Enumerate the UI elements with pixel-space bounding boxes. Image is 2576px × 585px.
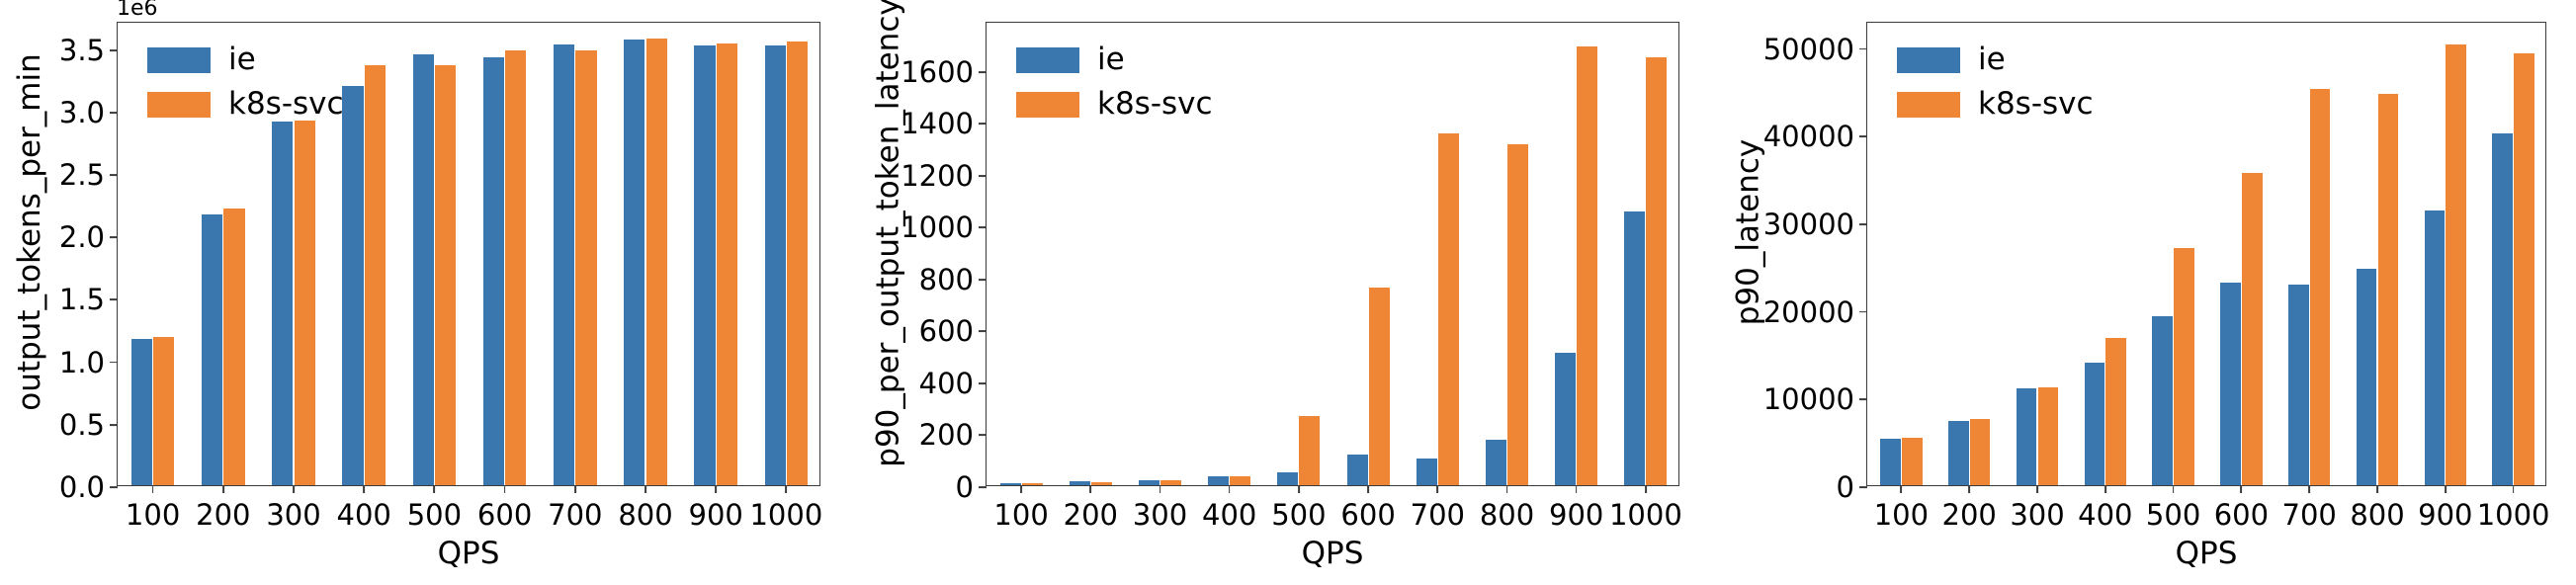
bar-ie	[1624, 211, 1645, 485]
x-tick-mark	[1367, 485, 1369, 493]
x-tick-mark	[574, 485, 576, 493]
bar-ie	[2357, 269, 2377, 485]
x-axis-label-3: QPS	[1866, 536, 2546, 571]
figure-root: output_tokens_per_min 1e6 0.00.51.01.52.…	[0, 0, 2576, 585]
chart-panel-1: output_tokens_per_min 1e6 0.00.51.01.52.…	[0, 0, 858, 585]
x-tick-label: 100	[1874, 498, 1929, 532]
x-tick-label: 800	[2350, 498, 2404, 532]
bar-ie	[624, 40, 644, 485]
y-tick-mark	[979, 435, 987, 437]
legend-2: ie k8s-svc	[1016, 44, 1213, 120]
x-tick-label: 200	[196, 498, 250, 532]
legend-label-ie: ie	[1097, 44, 1125, 75]
bar-ie	[554, 44, 574, 485]
y-tick-mark	[110, 174, 118, 176]
x-tick-label: 300	[1133, 498, 1187, 532]
x-tick-label: 900	[1549, 498, 1603, 532]
x-tick-label: 300	[266, 498, 320, 532]
bar-ie	[1277, 472, 1298, 485]
legend-label-k8s-svc: k8s-svc	[1097, 89, 1213, 120]
plot-area-3: 0100002000030000400005000010020030040050…	[1866, 22, 2546, 486]
x-tick-label: 600	[1340, 498, 1395, 532]
x-tick-label: 1000	[749, 498, 822, 532]
bar-k8s-svc	[575, 50, 596, 485]
plot-area-1: 0.00.51.01.52.02.53.03.51002003004005006…	[117, 22, 820, 486]
bar-ie	[272, 122, 293, 485]
bar-k8s-svc	[1577, 46, 1597, 485]
y-tick-label: 600	[919, 314, 987, 348]
bar-ie	[2425, 210, 2446, 485]
y-axis-label-1: output_tokens_per_min	[8, 0, 51, 464]
bar-k8s-svc	[2038, 387, 2059, 485]
legend-entry-ie: ie	[1016, 44, 1213, 75]
bar-ie	[1486, 440, 1506, 485]
bar-k8s-svc	[2242, 173, 2263, 485]
y-tick-mark	[979, 486, 987, 488]
bar-k8s-svc	[435, 65, 456, 485]
x-tick-label: 900	[2418, 498, 2472, 532]
y-tick-mark	[110, 112, 118, 114]
x-tick-label: 100	[126, 498, 180, 532]
y-tick-label: 20000	[1763, 295, 1867, 329]
bar-ie	[694, 45, 715, 485]
x-tick-mark	[293, 485, 295, 493]
bar-k8s-svc	[1646, 57, 1667, 485]
x-tick-mark	[1436, 485, 1438, 493]
x-tick-label: 700	[2282, 498, 2337, 532]
bar-k8s-svc	[1902, 438, 1923, 485]
x-tick-mark	[363, 485, 365, 493]
x-tick-label: 200	[1064, 498, 1118, 532]
x-tick-mark	[222, 485, 224, 493]
legend-swatch-k8s-svc-icon	[1897, 92, 1960, 118]
bar-ie	[1000, 483, 1021, 485]
y-tick-mark	[110, 486, 118, 488]
y-tick-mark	[1859, 48, 1867, 50]
bar-k8s-svc	[1507, 144, 1528, 485]
bar-ie	[1139, 480, 1159, 485]
bar-ie	[2085, 363, 2105, 485]
x-tick-mark	[785, 485, 787, 493]
y-tick-mark	[110, 236, 118, 238]
bar-k8s-svc	[365, 65, 386, 485]
x-tick-label: 600	[477, 498, 532, 532]
legend-entry-k8s-svc: k8s-svc	[147, 89, 344, 120]
y-tick-label: 800	[919, 263, 987, 296]
y-tick-mark	[110, 424, 118, 426]
y-tick-mark	[1859, 486, 1867, 488]
x-tick-mark	[1645, 485, 1647, 493]
y-tick-mark	[110, 299, 118, 301]
legend-swatch-ie-icon	[1016, 47, 1079, 73]
legend-label-ie: ie	[228, 44, 256, 75]
legend-swatch-ie-icon	[147, 47, 211, 73]
x-tick-label: 1000	[2477, 498, 2550, 532]
x-tick-mark	[2036, 485, 2038, 493]
x-tick-mark	[1229, 485, 1231, 493]
bar-ie	[202, 214, 222, 485]
x-tick-mark	[1968, 485, 1970, 493]
bar-ie	[131, 339, 152, 485]
x-axis-label-1: QPS	[117, 536, 820, 571]
bar-ie	[2017, 388, 2037, 485]
x-tick-label: 300	[2010, 498, 2064, 532]
x-tick-mark	[1298, 485, 1300, 493]
x-tick-label: 200	[1942, 498, 1997, 532]
bar-ie	[1880, 439, 1901, 485]
y-tick-mark	[1859, 398, 1867, 400]
y-tick-label: 1000	[901, 210, 987, 244]
bar-k8s-svc	[2310, 89, 2331, 485]
y-tick-mark	[979, 71, 987, 73]
y-tick-label: 400	[919, 367, 987, 400]
y-tick-label: 1400	[901, 107, 987, 140]
bar-k8s-svc	[1438, 133, 1459, 485]
y-tick-label: 40000	[1763, 120, 1867, 153]
legend-entry-ie: ie	[147, 44, 344, 75]
y-axis-offset-text-1: 1e6	[117, 0, 158, 21]
x-tick-label: 500	[2146, 498, 2200, 532]
bar-ie	[1948, 421, 1969, 485]
x-tick-mark	[2513, 485, 2515, 493]
y-tick-label: 1200	[901, 159, 987, 193]
x-tick-mark	[1576, 485, 1578, 493]
legend-label-k8s-svc: k8s-svc	[1978, 89, 2094, 120]
bar-ie	[342, 86, 363, 485]
legend-entry-k8s-svc: k8s-svc	[1897, 89, 2094, 120]
y-tick-mark	[979, 123, 987, 125]
x-tick-mark	[1900, 485, 1902, 493]
x-tick-label: 700	[548, 498, 602, 532]
y-tick-label: 10000	[1763, 382, 1867, 416]
bar-ie	[483, 57, 504, 485]
legend-1: ie k8s-svc	[147, 44, 344, 120]
legend-swatch-k8s-svc-icon	[147, 92, 211, 118]
x-tick-label: 100	[993, 498, 1048, 532]
bar-k8s-svc	[2105, 338, 2126, 485]
chart-panel-2: p90_per_output_token_latency 02004006008…	[859, 0, 1717, 585]
bar-k8s-svc	[153, 337, 174, 485]
x-tick-mark	[433, 485, 435, 493]
x-tick-mark	[2104, 485, 2106, 493]
bar-ie	[1347, 455, 1368, 485]
legend-label-k8s-svc: k8s-svc	[228, 89, 344, 120]
bar-k8s-svc	[1230, 476, 1250, 485]
legend-entry-ie: ie	[1897, 44, 2094, 75]
y-tick-mark	[979, 331, 987, 333]
x-tick-label: 500	[407, 498, 462, 532]
x-tick-label: 1000	[1609, 498, 1682, 532]
y-tick-mark	[979, 227, 987, 229]
y-tick-mark	[1859, 311, 1867, 313]
x-tick-mark	[1020, 485, 1022, 493]
x-tick-mark	[2445, 485, 2447, 493]
x-axis-label-2: QPS	[986, 536, 1679, 571]
bar-ie	[1555, 353, 1576, 485]
bar-k8s-svc	[1022, 483, 1043, 485]
y-tick-mark	[110, 49, 118, 51]
x-tick-label: 800	[618, 498, 672, 532]
y-tick-mark	[979, 279, 987, 281]
x-tick-mark	[2376, 485, 2378, 493]
y-tick-mark	[1859, 135, 1867, 137]
y-tick-label: 30000	[1763, 208, 1867, 241]
bar-ie	[1070, 481, 1090, 485]
bar-ie	[2288, 285, 2309, 485]
x-tick-label: 500	[1271, 498, 1326, 532]
y-tick-label: 50000	[1763, 33, 1867, 66]
legend-3: ie k8s-svc	[1897, 44, 2094, 120]
bar-ie	[413, 54, 434, 485]
x-tick-label: 400	[2078, 498, 2132, 532]
x-tick-mark	[1159, 485, 1161, 493]
x-tick-label: 700	[1411, 498, 1465, 532]
bar-ie	[765, 45, 786, 485]
x-tick-label: 600	[2214, 498, 2269, 532]
bar-k8s-svc	[1160, 480, 1181, 485]
chart-panel-3: p90_latency 0100002000030000400005000010…	[1718, 0, 2576, 585]
x-tick-label: 400	[1202, 498, 1256, 532]
bar-k8s-svc	[717, 43, 737, 485]
y-tick-label: 200	[919, 418, 987, 452]
bar-k8s-svc	[1091, 482, 1112, 485]
bar-k8s-svc	[2174, 248, 2194, 485]
bar-ie	[1208, 476, 1229, 485]
bar-ie	[2220, 283, 2241, 485]
bar-ie	[2152, 316, 2173, 485]
legend-label-ie: ie	[1978, 44, 2006, 75]
bar-ie	[2492, 133, 2513, 485]
x-tick-mark	[2240, 485, 2242, 493]
y-tick-mark	[979, 382, 987, 384]
y-tick-mark	[110, 362, 118, 364]
bar-k8s-svc	[1970, 419, 1991, 485]
bar-k8s-svc	[646, 39, 667, 485]
x-tick-mark	[2308, 485, 2310, 493]
legend-swatch-ie-icon	[1897, 47, 1960, 73]
y-tick-mark	[979, 175, 987, 177]
bar-k8s-svc	[2378, 94, 2399, 485]
legend-swatch-k8s-svc-icon	[1016, 92, 1079, 118]
x-tick-mark	[1089, 485, 1091, 493]
bar-ie	[1417, 459, 1437, 485]
legend-entry-k8s-svc: k8s-svc	[1016, 89, 1213, 120]
x-tick-mark	[2173, 485, 2175, 493]
x-tick-mark	[152, 485, 154, 493]
y-tick-label: 1600	[901, 55, 987, 89]
x-tick-label: 400	[337, 498, 391, 532]
x-tick-label: 900	[689, 498, 743, 532]
bar-k8s-svc	[1299, 416, 1320, 485]
y-tick-mark	[1859, 223, 1867, 225]
bar-k8s-svc	[2514, 53, 2534, 485]
bar-k8s-svc	[2446, 44, 2466, 485]
bar-k8s-svc	[787, 42, 808, 485]
bar-k8s-svc	[1369, 288, 1390, 485]
x-tick-mark	[504, 485, 506, 493]
bar-k8s-svc	[505, 50, 526, 485]
bar-k8s-svc	[295, 121, 315, 485]
x-tick-mark	[1506, 485, 1508, 493]
x-tick-mark	[715, 485, 717, 493]
bar-k8s-svc	[223, 209, 244, 485]
x-tick-mark	[644, 485, 646, 493]
plot-area-2: 0200400600800100012001400160010020030040…	[986, 22, 1679, 486]
x-tick-label: 800	[1480, 498, 1534, 532]
